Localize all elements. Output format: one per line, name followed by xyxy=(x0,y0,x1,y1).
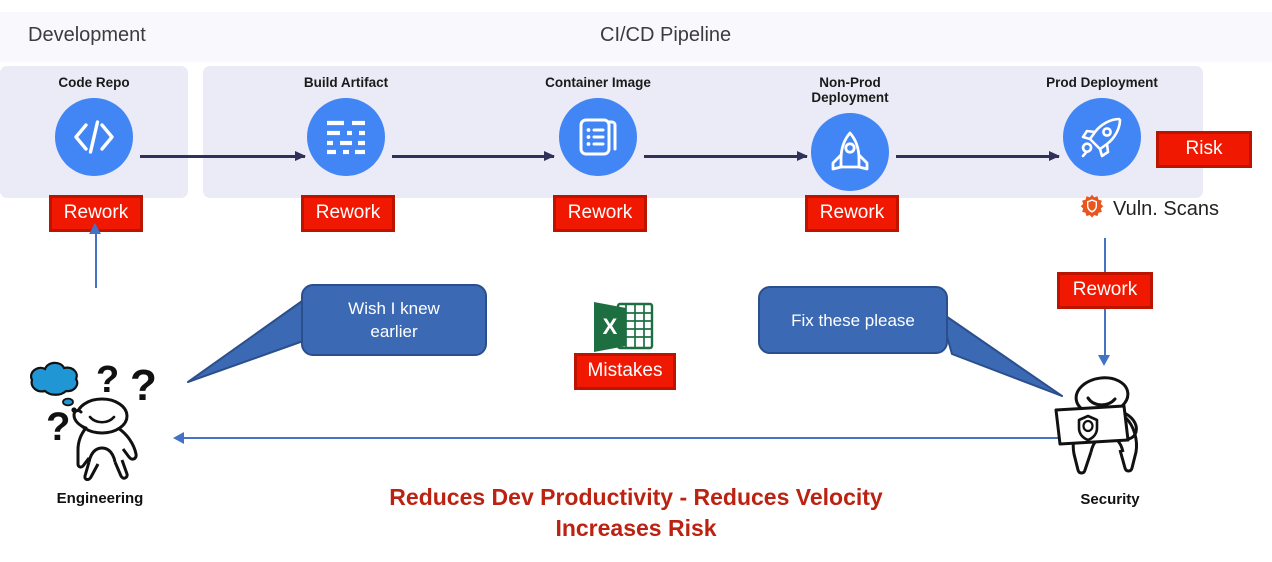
stage-prod-deployment-label: Prod Deployment xyxy=(1022,66,1182,90)
person-with-laptop-icon xyxy=(1040,372,1180,484)
stage-build-artifact[interactable]: Build Artifact xyxy=(266,66,426,176)
code-brackets-icon xyxy=(55,98,133,176)
svg-text:?: ? xyxy=(46,405,70,449)
rework-chip-build-artifact[interactable]: Rework xyxy=(301,195,395,232)
footer-line-1: Reduces Dev Productivity - Reduces Veloc… xyxy=(0,482,1272,513)
arrow-engineering-to-code-repo-head xyxy=(89,223,101,234)
build-lines-icon xyxy=(307,98,385,176)
risk-badge[interactable]: Risk xyxy=(1156,131,1252,168)
mistakes-chip[interactable]: Mistakes xyxy=(574,353,676,390)
excel-file-icon: X xyxy=(592,300,656,357)
svg-text:?: ? xyxy=(130,361,157,410)
document-list-icon xyxy=(559,98,637,176)
stage-build-artifact-label: Build Artifact xyxy=(266,66,426,90)
security-bubble[interactable]: Fix these please xyxy=(758,286,948,354)
svg-text:X: X xyxy=(603,314,618,339)
engineering-bubble-text: Wish I knew earlier xyxy=(348,297,440,343)
rework-chip-security[interactable]: Rework xyxy=(1057,272,1153,309)
footer-line-2: Increases Risk xyxy=(0,513,1272,544)
rocket-tilted-icon xyxy=(1063,98,1141,176)
stage-code-repo-label: Code Repo xyxy=(14,66,174,90)
stage-non-prod-deployment-label: Non-Prod Deployment xyxy=(770,66,930,105)
gear-shield-icon xyxy=(1079,194,1105,225)
cicd-band-title: CI/CD Pipeline xyxy=(600,24,731,47)
rework-chip-non-prod[interactable]: Rework xyxy=(805,195,899,232)
stage-container-image-label: Container Image xyxy=(518,66,678,90)
arrow-prod-to-security-head xyxy=(1098,355,1110,366)
stage-non-prod-deployment[interactable]: Non-Prod Deployment xyxy=(770,66,930,191)
vuln-scans-label: Vuln. Scans xyxy=(1113,198,1219,221)
security-bubble-text: Fix these please xyxy=(791,309,915,332)
development-band-title: Development xyxy=(28,24,146,47)
stage-container-image[interactable]: Container Image xyxy=(518,66,678,176)
diagram-canvas: Development CI/CD Pipeline Code Repo Bui… xyxy=(0,0,1272,562)
rework-chip-container-image[interactable]: Rework xyxy=(553,195,647,232)
stage-code-repo[interactable]: Code Repo xyxy=(14,66,174,176)
engineering-bubble-tail xyxy=(186,292,316,388)
arrow-security-to-engineering xyxy=(184,437,1084,439)
rocket-upright-icon xyxy=(811,113,889,191)
svg-text:?: ? xyxy=(96,359,119,401)
vuln-scans[interactable]: Vuln. Scans xyxy=(1079,194,1219,225)
confused-person-icon: ? ? ? xyxy=(10,358,190,483)
footer-message: Reduces Dev Productivity - Reduces Veloc… xyxy=(0,482,1272,544)
arrow-engineering-to-code-repo xyxy=(95,233,97,288)
engineering-bubble[interactable]: Wish I knew earlier xyxy=(301,284,487,356)
